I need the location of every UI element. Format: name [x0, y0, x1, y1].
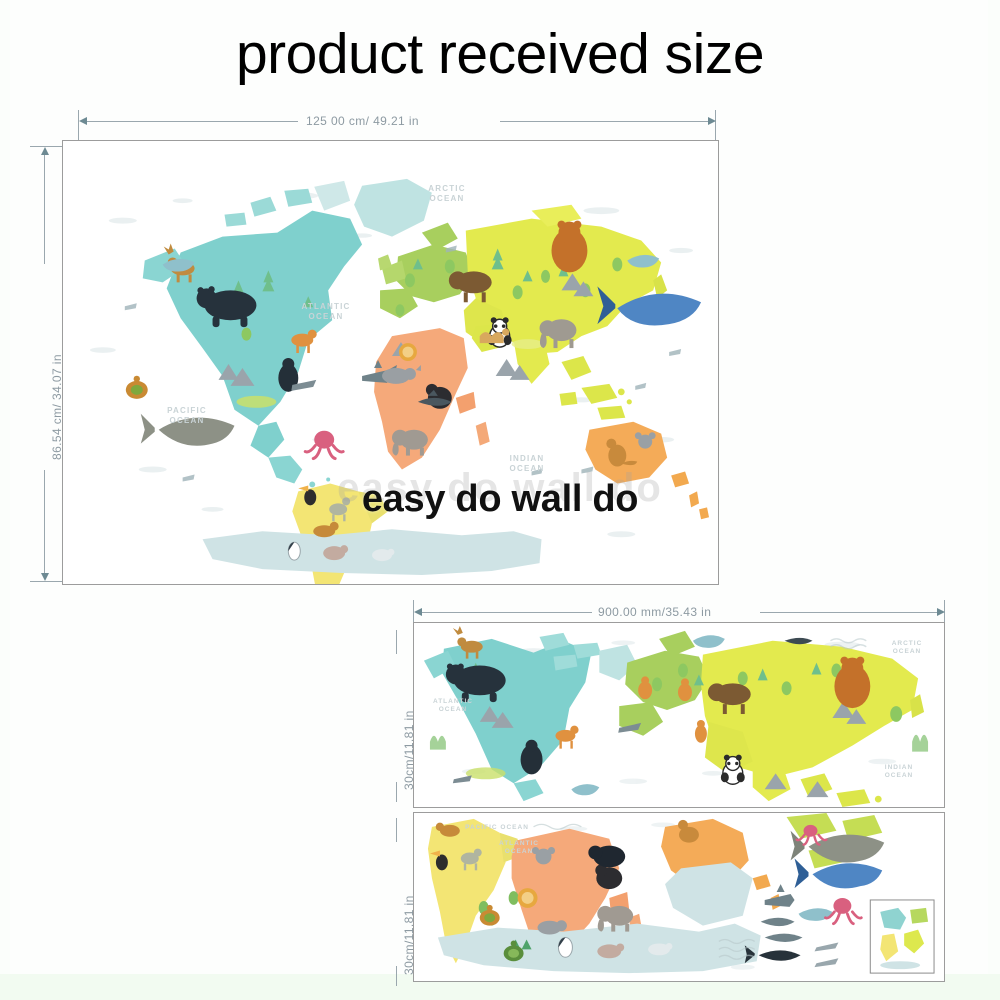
strip-dim-arrow-right-icon — [937, 608, 945, 616]
strip-width-label: 900.00 mm/35.43 in — [598, 605, 711, 619]
strip-dim-arrow-left-icon — [414, 608, 422, 616]
dim-arrow-up-icon — [41, 147, 49, 155]
strip-dim-line-left — [420, 612, 592, 613]
strip-south-artwork — [414, 813, 944, 981]
dim-line-width-right — [500, 121, 708, 122]
strip-south-label-atlantic: ATLANTIC OCEAN — [494, 840, 544, 856]
page-edge-right — [988, 0, 1000, 1000]
main-map-panel[interactable] — [62, 140, 719, 585]
poster-canvas: product received size 125 00 cm/ 49.21 i… — [0, 0, 1000, 1000]
dim-line-height-top — [44, 154, 45, 264]
strip-north-label-arctic: ARCTIC OCEAN — [884, 640, 930, 656]
strip1-dim-line — [396, 630, 397, 654]
dim-line-height-bottom — [44, 470, 45, 574]
main-map-artwork — [63, 141, 718, 584]
dim-arrow-left-icon — [79, 117, 87, 125]
strip-panel-north[interactable] — [413, 622, 945, 808]
strip-dim-line-right — [760, 612, 938, 613]
page-title: product received size — [0, 22, 1000, 86]
world-map-illustration — [63, 141, 718, 584]
dim-arrow-down-icon — [41, 573, 49, 581]
ocean-label-atlantic: ATLANTIC OCEAN — [300, 302, 352, 322]
strip2-dim-line — [396, 818, 397, 842]
strip-north-artwork — [414, 623, 944, 807]
ocean-label-indian: INDIAN OCEAN — [502, 454, 552, 474]
dim-extension-bottom-left — [30, 581, 66, 582]
dim-arrow-right-icon — [708, 117, 716, 125]
page-edge-left — [0, 0, 10, 1000]
strip-south-label-pacific: PACIFIC OCEAN — [452, 824, 542, 832]
strip1-dim-line-b — [396, 782, 397, 802]
ocean-label-pacific: PACIFIC OCEAN — [162, 406, 212, 426]
dim-line-width-left — [86, 121, 298, 122]
strip-panel-south[interactable] — [413, 812, 945, 982]
strip-north-label-indian: INDIAN OCEAN — [876, 764, 922, 780]
strip2-dim-line-b — [396, 966, 397, 986]
southern-hemisphere-illustration — [414, 813, 944, 981]
northern-hemisphere-illustration — [414, 623, 944, 807]
main-width-label: 125 00 cm/ 49.21 in — [306, 114, 419, 128]
ocean-label-arctic: ARCTIC OCEAN — [424, 184, 470, 204]
strip-north-label-atlantic: ATLANTIC OCEAN — [430, 698, 476, 714]
